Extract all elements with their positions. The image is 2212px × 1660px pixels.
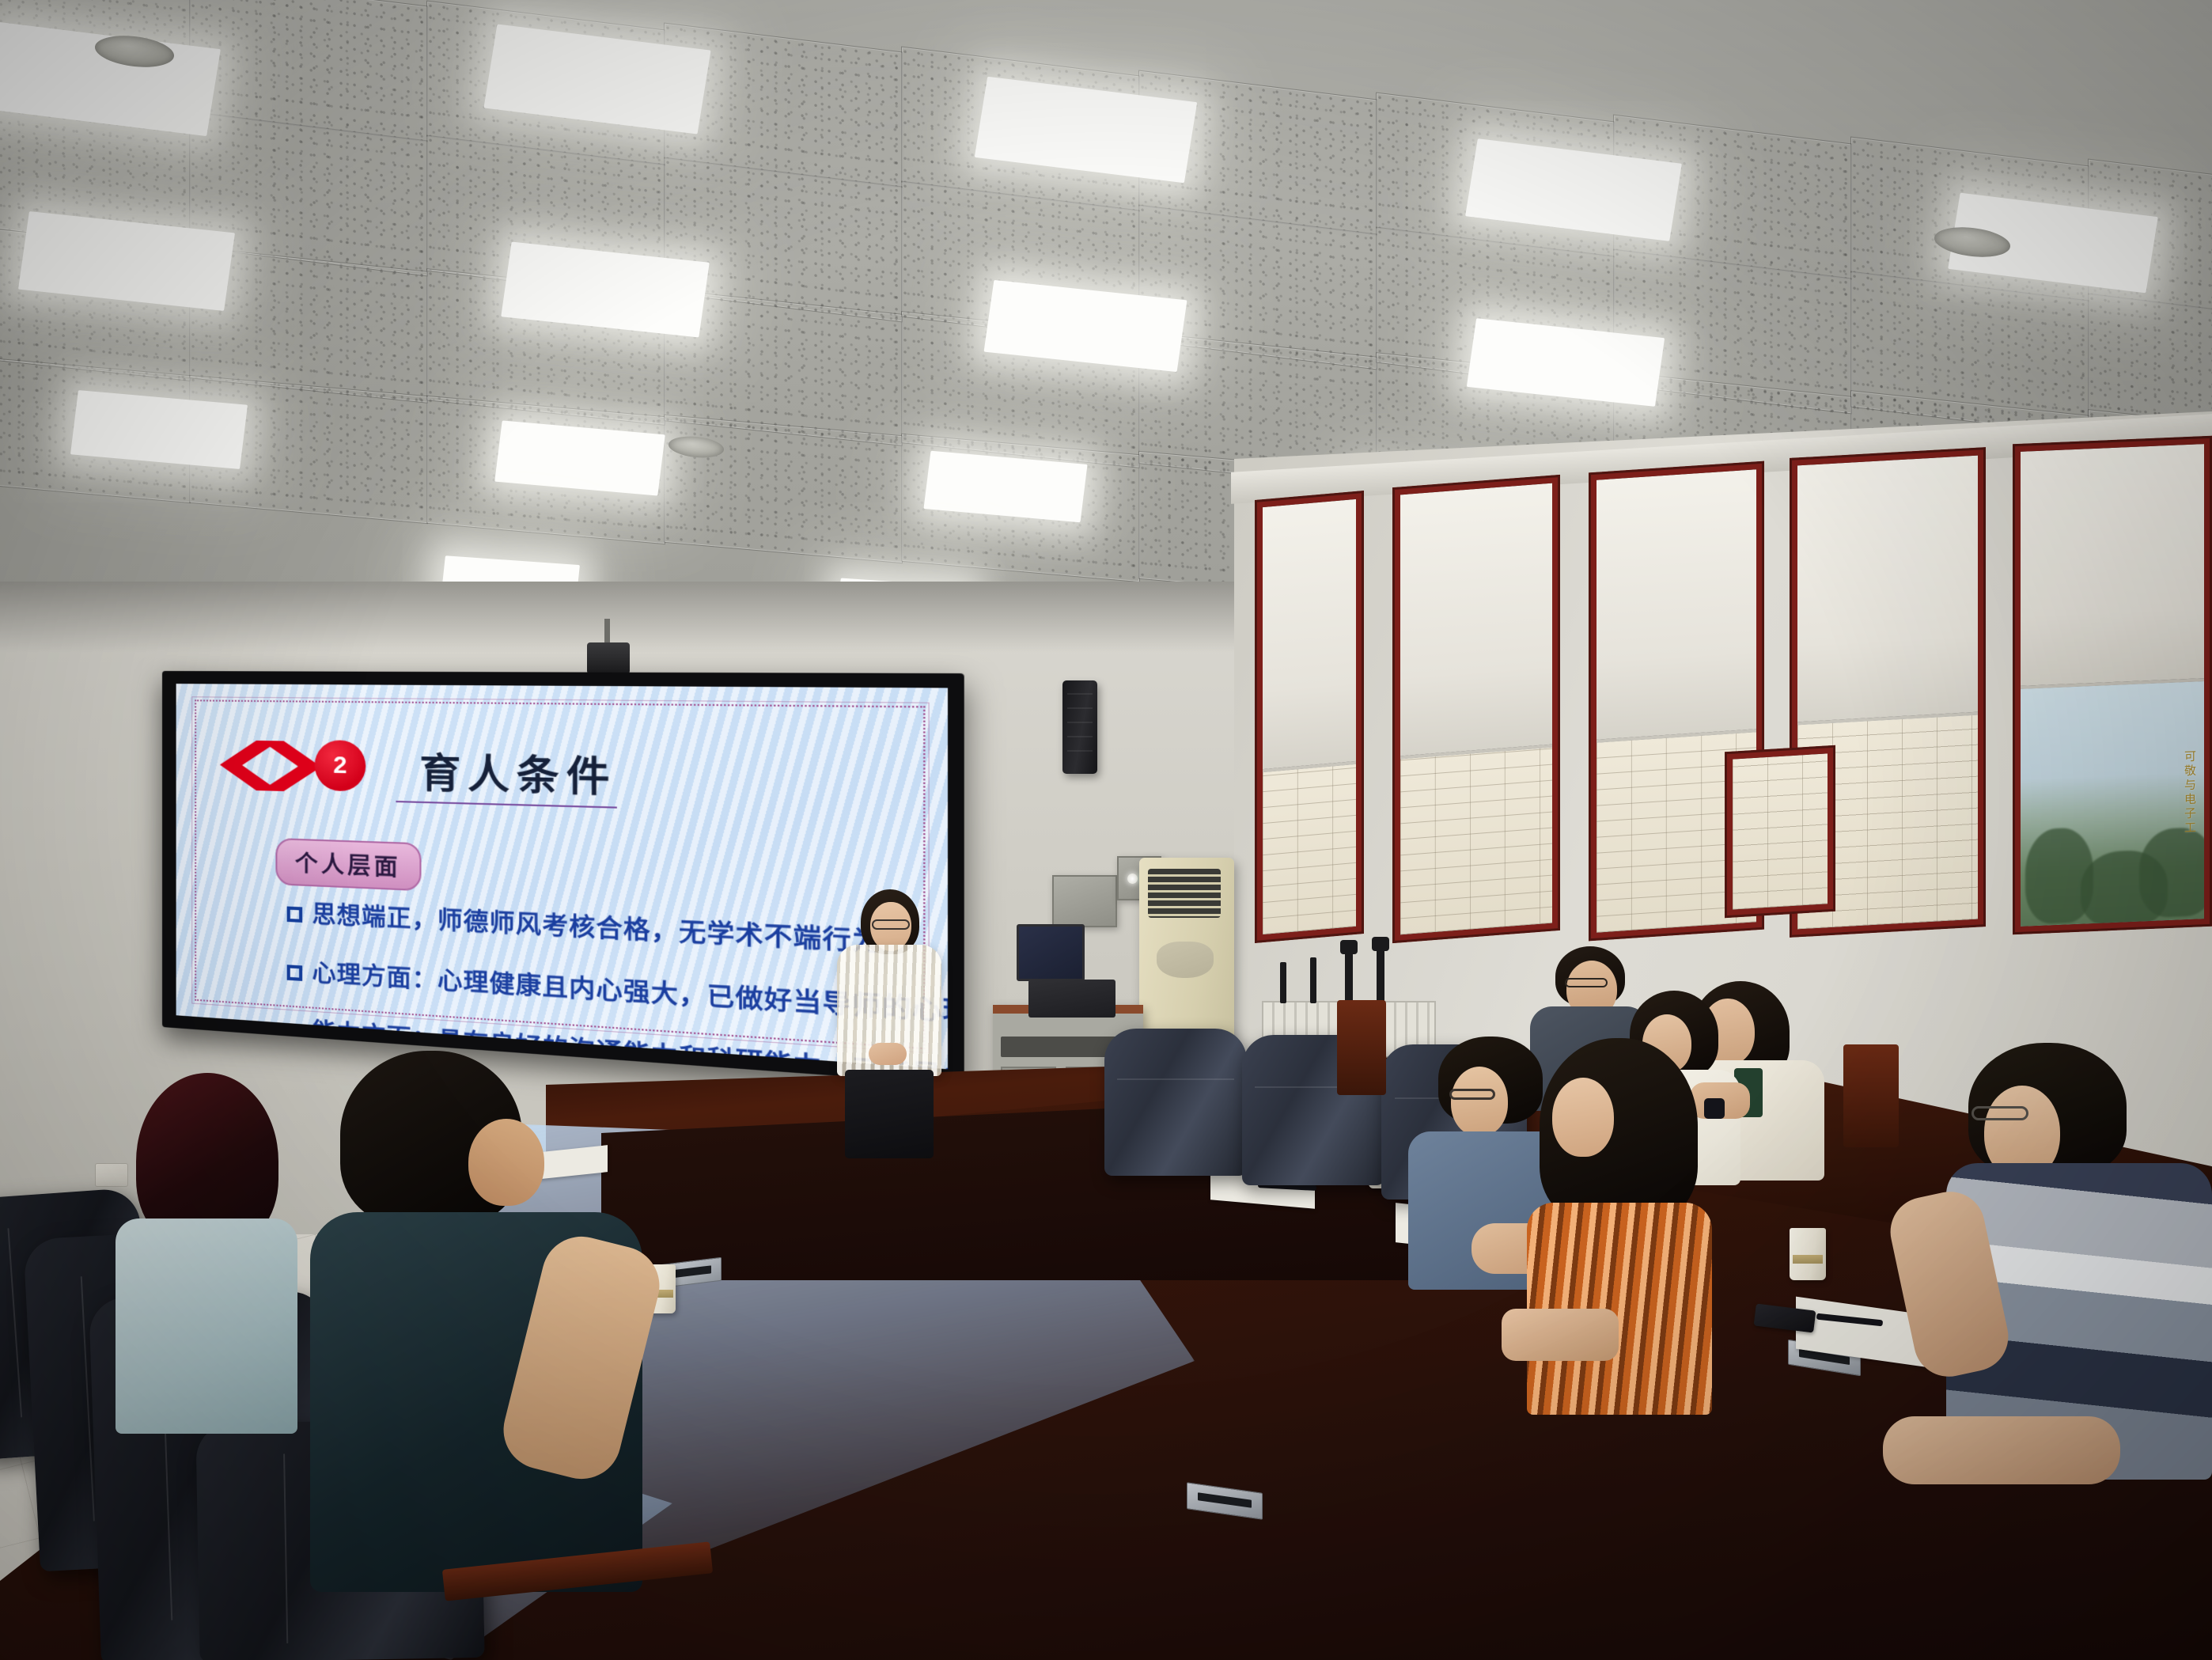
presenter-hands [869, 1043, 907, 1065]
projector-mount [587, 642, 630, 674]
glasses-icon [1449, 1089, 1495, 1100]
chair-frame [1843, 1044, 1899, 1147]
microphone-stand [1345, 946, 1353, 1003]
microphone-stand [1377, 943, 1384, 1003]
paper-cup[interactable] [1790, 1228, 1826, 1280]
projector-arm [604, 619, 610, 646]
window-glass [1263, 764, 1356, 935]
window-blind[interactable] [2021, 444, 2204, 689]
chair-frame [1337, 1000, 1386, 1095]
chair[interactable] [1104, 1029, 1247, 1176]
glasses-icon [1971, 1106, 2028, 1120]
microphone-head-icon [1372, 937, 1389, 951]
window: 可敬与电子工 [2013, 436, 2212, 935]
conference-room-photo: 可敬与电子工 2 育人条件 个人层面 思想端正，师德师风考核 [0, 0, 2212, 1660]
electrical-panel [1052, 875, 1117, 927]
list-item: 心理方面：心理健康且内心强大，已做好当导师的心理准备。 [287, 960, 907, 1025]
microphone-head-icon [1340, 940, 1358, 954]
presenter-skirt [845, 1070, 934, 1158]
microphone-stand [1280, 962, 1286, 1003]
ac-control-panel[interactable] [1157, 942, 1214, 978]
slide-title: 育人条件 [419, 740, 616, 803]
slide-section-number: 2 [315, 740, 366, 791]
square-bullet-icon [287, 907, 302, 923]
wall-outlet[interactable] [95, 1163, 128, 1187]
square-bullet-icon [287, 965, 302, 981]
status-led-white [1127, 874, 1138, 884]
glasses-icon [872, 919, 910, 930]
av-equipment-box [1028, 980, 1115, 1018]
slide-section-tag: 个人层面 [275, 838, 421, 891]
red-chevron-logo: 2 [220, 738, 391, 794]
wristwatch [1704, 1098, 1725, 1119]
desk-monitor [1017, 924, 1085, 981]
microphone-stand [1310, 957, 1316, 1003]
window-glass: 可敬与电子工 [2021, 681, 2204, 927]
wall-ceiling-shadow [0, 582, 1392, 653]
window [1725, 745, 1835, 919]
ac-vent-grill [1148, 869, 1221, 918]
presentation-slide: 2 育人条件 个人层面 思想端正，师德师风考核合格，无学术不端行为。 心理方面：… [176, 684, 948, 1069]
window-blind[interactable] [1263, 499, 1356, 772]
window-blind[interactable] [1597, 469, 1756, 742]
window [1392, 475, 1560, 943]
window-glass [1400, 747, 1552, 934]
window-blind[interactable] [1797, 456, 1978, 726]
glasses-icon [1565, 978, 1608, 987]
outdoor-signage: 可敬与电子工 [2181, 749, 2198, 836]
window [1255, 491, 1364, 943]
window-blind[interactable] [1400, 483, 1552, 759]
wall-speaker-icon [1062, 680, 1097, 774]
